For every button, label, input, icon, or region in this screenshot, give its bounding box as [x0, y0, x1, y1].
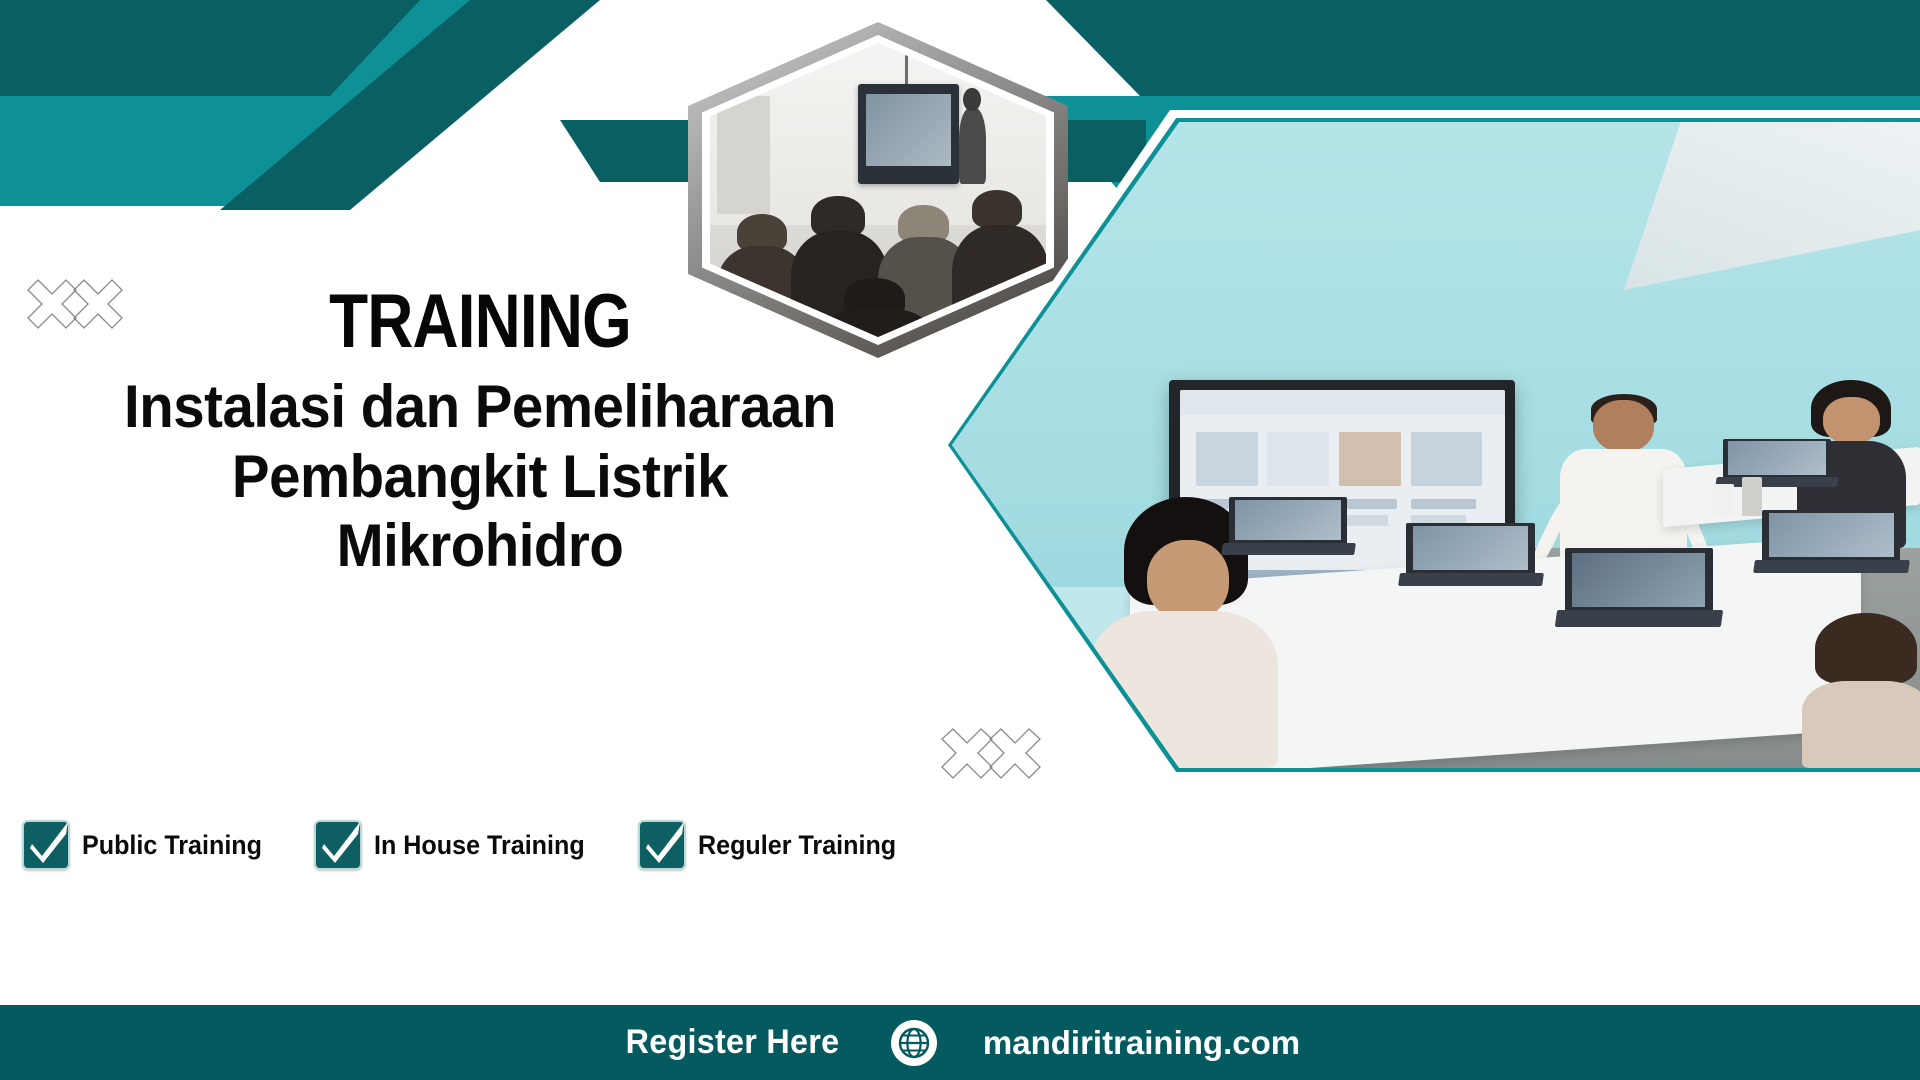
option-label: In House Training: [374, 830, 585, 861]
title-line-2: Pembangkit Listrik: [29, 442, 931, 512]
title-line-3: Mikrohidro: [29, 511, 931, 581]
website-url: mandiritraining.com: [983, 1024, 1300, 1062]
footer-bar: Register Here mandiritraining.com: [0, 1005, 1920, 1080]
checkbox-checked-icon[interactable]: [22, 820, 70, 870]
globe-icon: [891, 1020, 937, 1066]
training-session-photo: [940, 110, 1920, 780]
title-line-1: Instalasi dan Pemeliharaan: [29, 372, 931, 442]
training-type-options: Public Training In House Training Regule…: [22, 820, 911, 870]
option-reguler-training[interactable]: Reguler Training: [638, 820, 911, 870]
option-in-house-training[interactable]: In House Training: [314, 820, 601, 870]
poster-canvas: TRAINING Instalasi dan Pemeliharaan Pemb…: [0, 0, 1920, 1080]
participant-bottom-right: [1802, 613, 1920, 768]
register-here-label: Register Here: [626, 1023, 840, 1062]
page-title: Instalasi dan Pemeliharaan Pembangkit Li…: [29, 372, 931, 581]
checkbox-checked-icon[interactable]: [314, 820, 362, 870]
option-label: Reguler Training: [698, 830, 896, 861]
checkbox-checked-icon[interactable]: [638, 820, 686, 870]
option-public-training[interactable]: Public Training: [22, 820, 276, 870]
page-kicker: TRAINING: [77, 278, 883, 365]
option-label: Public Training: [82, 830, 262, 861]
